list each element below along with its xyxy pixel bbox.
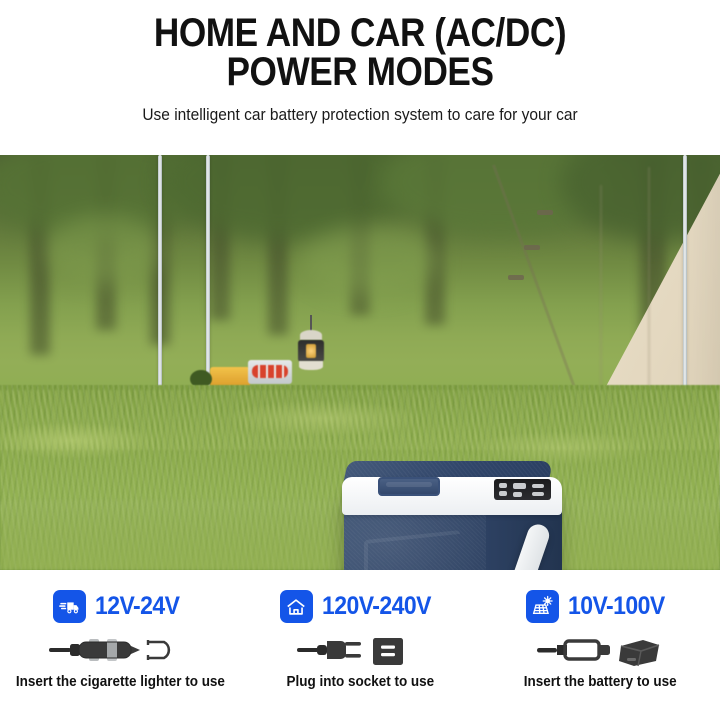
- grass-tips: [0, 390, 720, 450]
- voltage-label: 120V-240V: [322, 592, 431, 621]
- header: HOME AND CAR (AC/DC) POWER MODES Use int…: [0, 0, 720, 125]
- home-icon: [280, 590, 313, 623]
- battery-connector-art: [535, 630, 665, 670]
- feature-ac-home: 120V-240V Plug into socket to use: [240, 578, 480, 720]
- fridge-control-panel[interactable]: [494, 479, 551, 500]
- tent-strap: [537, 210, 553, 215]
- tree-canopy: [44, 215, 164, 285]
- lantern-top: [300, 330, 322, 340]
- feature-caption: Plug into socket to use: [286, 674, 434, 690]
- lantern-hook: [310, 315, 312, 331]
- control-button[interactable]: [513, 492, 522, 497]
- feature-heading: 120V-240V: [280, 590, 440, 623]
- tent-strap: [524, 245, 540, 250]
- title-line-1: HOME AND CAR (AC/DC): [154, 11, 566, 55]
- product-photo: [0, 155, 720, 570]
- page-subtitle: Use intelligent car battery protection s…: [40, 106, 679, 125]
- lantern-base: [299, 361, 323, 370]
- control-button[interactable]: [499, 483, 507, 488]
- voltage-label: 10V-100V: [568, 592, 665, 621]
- solar-panel-icon: [526, 590, 559, 623]
- tent-fold: [600, 185, 602, 415]
- tree-canopy: [300, 225, 440, 295]
- feature-dc-car: 12V-24V Insert the cigarette lighter to …: [0, 578, 240, 720]
- control-button[interactable]: [532, 492, 544, 496]
- feature-caption: Insert the battery to use: [524, 674, 677, 690]
- control-button[interactable]: [499, 491, 507, 496]
- tomatoes: [252, 365, 288, 378]
- cigarette-lighter-plug-art: [45, 630, 195, 670]
- feature-heading: 12V-24V: [53, 590, 187, 623]
- lantern-glow: [306, 344, 316, 358]
- control-button[interactable]: [532, 484, 544, 488]
- feature-caption: Insert the cigarette lighter to use: [15, 674, 224, 690]
- tent-pole: [158, 155, 162, 405]
- fridge-lid-handle: [378, 477, 440, 496]
- voltage-label: 12V-24V: [95, 592, 179, 621]
- tent-fold: [648, 167, 650, 417]
- feature-solar-battery: 10V-100V Insert the battery to use: [480, 578, 720, 720]
- feature-heading: 10V-100V: [526, 590, 673, 623]
- ac-plug-and-socket-art: [295, 630, 425, 670]
- control-display: [513, 483, 526, 489]
- page-title: HOME AND CAR (AC/DC) POWER MODES: [61, 14, 659, 92]
- tent-strap: [508, 275, 524, 280]
- infographic-page: HOME AND CAR (AC/DC) POWER MODES Use int…: [0, 0, 720, 720]
- feature-row: 12V-24V Insert the cigarette lighter to …: [0, 578, 720, 720]
- car-fridge: [334, 455, 594, 570]
- delivery-truck-icon: [53, 590, 86, 623]
- title-line-2: POWER MODES: [61, 53, 659, 92]
